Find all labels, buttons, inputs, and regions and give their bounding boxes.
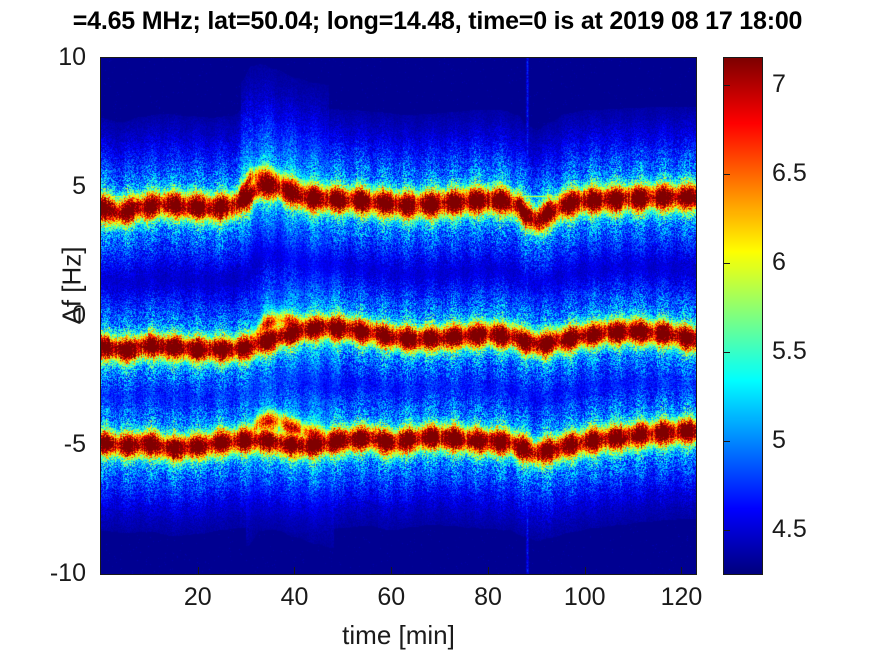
spectrogram-plot-area[interactable] (100, 57, 697, 575)
spectrogram-image (101, 58, 696, 574)
colorbar-tick-mark (723, 263, 730, 264)
colorbar-tick-mark (723, 352, 730, 353)
x-tick-mark (488, 567, 489, 574)
colorbar-tick-label: 6.5 (772, 161, 868, 186)
x-tick-label: 60 (346, 583, 436, 611)
y-tick-label: 0 (0, 303, 86, 328)
x-tick-label: 80 (443, 583, 533, 611)
colorbar-tick-label: 5 (772, 428, 868, 453)
colorbar-tick-label: 5.5 (772, 339, 868, 364)
x-tick-label: 100 (540, 583, 630, 611)
colorbar-tick-label: 6 (772, 250, 868, 275)
x-tick-mark (681, 567, 682, 574)
colorbar-tick-mark (723, 530, 730, 531)
colorbar-tick-mark (723, 174, 730, 175)
y-tick-label: 10 (0, 45, 86, 70)
colorbar[interactable] (723, 57, 763, 575)
x-tick-mark (294, 567, 295, 574)
figure-canvas: =4.65 MHz; lat=50.04; long=14.48, time=0… (0, 0, 875, 656)
x-tick-label: 40 (249, 583, 339, 611)
y-tick-label: 5 (0, 174, 86, 199)
x-tick-mark (391, 567, 392, 574)
colorbar-tick-label: 7 (772, 72, 868, 97)
y-axis-label: Δf [Hz] (57, 176, 88, 396)
y-tick-label: -10 (0, 561, 86, 586)
x-tick-label: 20 (153, 583, 243, 611)
x-tick-mark (585, 567, 586, 574)
colorbar-tick-mark (723, 441, 730, 442)
y-tick-label: -5 (0, 432, 86, 457)
x-tick-label: 120 (636, 583, 726, 611)
x-axis-label: time [min] (100, 620, 697, 650)
x-tick-mark (198, 567, 199, 574)
colorbar-tick-mark (723, 85, 730, 86)
colorbar-tick-label: 4.5 (772, 517, 868, 542)
page-title: =4.65 MHz; lat=50.04; long=14.48, time=0… (0, 6, 875, 36)
colorbar-gradient (724, 58, 762, 574)
